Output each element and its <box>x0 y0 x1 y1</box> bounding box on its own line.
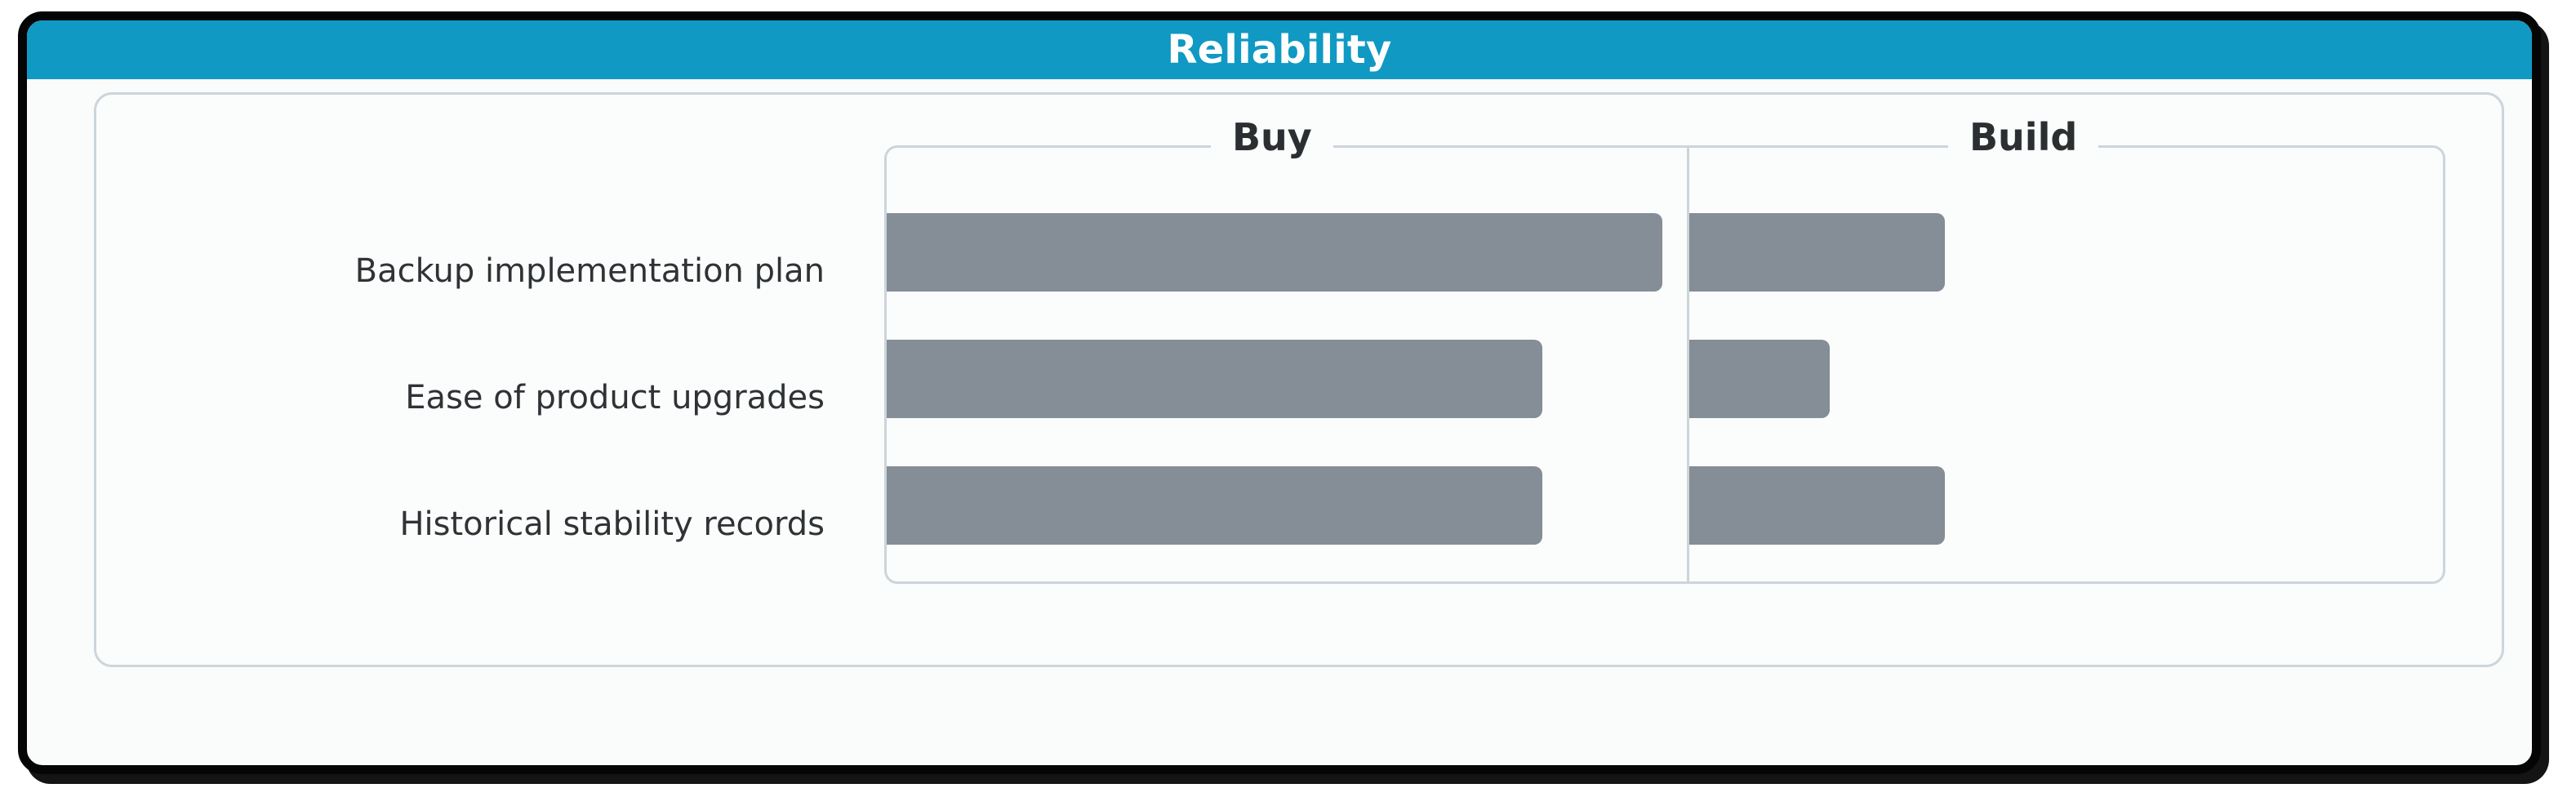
bar-build-historical-stability-records <box>1689 466 1945 545</box>
card-header: Reliability <box>27 20 2532 79</box>
bar-build-backup-implementation-plan <box>1689 213 1945 292</box>
bar-buy-ease-of-product-upgrades <box>887 340 1542 418</box>
group-legend-buy: Buy <box>1211 118 1333 156</box>
bar-buy-backup-implementation-plan <box>887 213 1662 292</box>
reliability-card: Reliability Backup implementation plan E… <box>18 11 2541 774</box>
page-title: Reliability <box>1168 30 1392 69</box>
group-legend-build: Build <box>1948 118 2098 156</box>
category-label-historical-stability-records: Historical stability records <box>106 508 825 541</box>
plot-frame: Buy Build <box>884 145 2445 584</box>
screenshot-root: Reliability Backup implementation plan E… <box>0 0 2576 797</box>
comparison-chart: Backup implementation plan Ease of produ… <box>96 95 2502 665</box>
bar-buy-historical-stability-records <box>887 466 1542 545</box>
category-label-column: Backup implementation plan Ease of produ… <box>96 95 848 665</box>
bar-build-ease-of-product-upgrades <box>1689 340 1830 418</box>
category-label-ease-of-product-upgrades: Ease of product upgrades <box>106 381 825 414</box>
chart-panel: Backup implementation plan Ease of produ… <box>94 92 2504 667</box>
category-label-backup-implementation-plan: Backup implementation plan <box>106 255 825 287</box>
